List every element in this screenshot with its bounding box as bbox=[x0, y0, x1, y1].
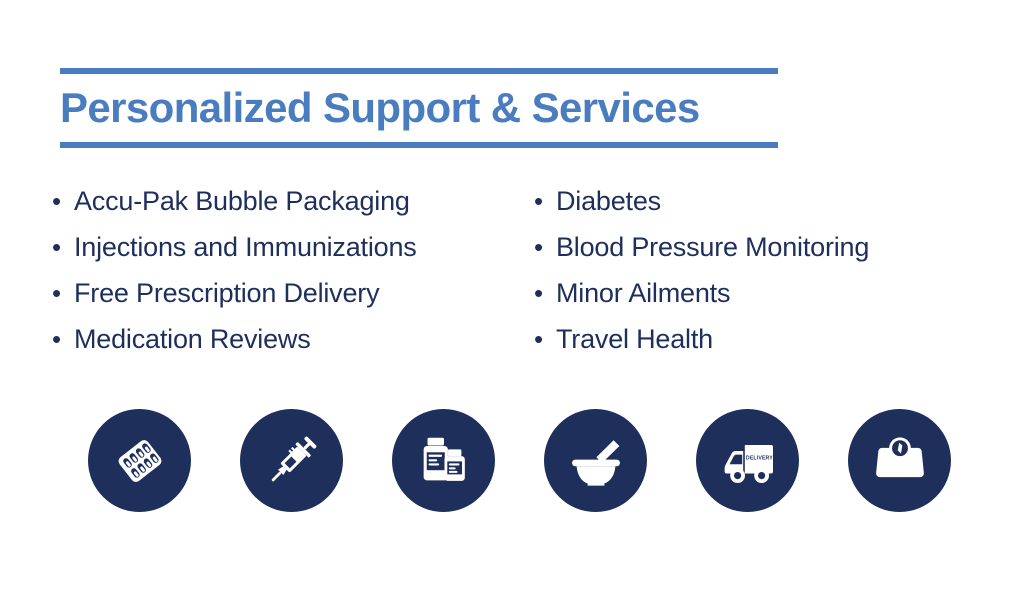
blister-pack-icon bbox=[108, 429, 172, 493]
services-lists: • Accu-Pak Bubble Packaging • Injections… bbox=[0, 178, 1025, 368]
list-item: • Diabetes bbox=[534, 178, 869, 224]
list-item: • Free Prescription Delivery bbox=[52, 270, 417, 316]
list-item-label: Free Prescription Delivery bbox=[74, 270, 379, 316]
list-item-label: Blood Pressure Monitoring bbox=[556, 224, 869, 270]
weight-scale-icon bbox=[869, 430, 931, 492]
list-item: • Blood Pressure Monitoring bbox=[534, 224, 869, 270]
services-column-right: • Diabetes • Blood Pressure Monitoring •… bbox=[534, 178, 869, 362]
services-column-left: • Accu-Pak Bubble Packaging • Injections… bbox=[52, 178, 417, 362]
bullet-icon: • bbox=[52, 270, 74, 316]
list-item-label: Medication Reviews bbox=[74, 316, 311, 362]
bullet-icon: • bbox=[52, 178, 74, 224]
list-item-label: Travel Health bbox=[556, 316, 713, 362]
list-item-label: Diabetes bbox=[556, 178, 661, 224]
list-item-label: Injections and Immunizations bbox=[74, 224, 417, 270]
title-block: Personalized Support & Services bbox=[60, 68, 778, 148]
service-icon-row: DELIVERY bbox=[0, 409, 1025, 512]
icon-badge-weight-scale bbox=[848, 409, 951, 512]
icon-badge-mortar-pestle bbox=[544, 409, 647, 512]
list-item: • Accu-Pak Bubble Packaging bbox=[52, 178, 417, 224]
list-item: • Travel Health bbox=[534, 316, 869, 362]
bullet-icon: • bbox=[534, 316, 556, 362]
bullet-icon: • bbox=[534, 178, 556, 224]
bullet-icon: • bbox=[534, 224, 556, 270]
title-rule-bottom bbox=[60, 142, 778, 148]
list-item: • Injections and Immunizations bbox=[52, 224, 417, 270]
slide-canvas: Personalized Support & Services • Accu-P… bbox=[0, 0, 1025, 590]
icon-badge-blister-pack bbox=[88, 409, 191, 512]
list-item: • Medication Reviews bbox=[52, 316, 417, 362]
icon-badge-syringe bbox=[240, 409, 343, 512]
bullet-icon: • bbox=[534, 270, 556, 316]
delivery-truck-icon: DELIVERY bbox=[716, 429, 780, 493]
icon-badge-pill-bottles bbox=[392, 409, 495, 512]
pill-bottles-icon bbox=[413, 430, 475, 492]
syringe-icon bbox=[260, 429, 324, 493]
bullet-icon: • bbox=[52, 316, 74, 362]
icon-badge-delivery-truck: DELIVERY bbox=[696, 409, 799, 512]
list-item-label: Minor Ailments bbox=[556, 270, 730, 316]
list-item-label: Accu-Pak Bubble Packaging bbox=[74, 178, 410, 224]
bullet-icon: • bbox=[52, 224, 74, 270]
page-title: Personalized Support & Services bbox=[60, 74, 778, 142]
truck-delivery-label: DELIVERY bbox=[745, 455, 772, 461]
list-item: • Minor Ailments bbox=[534, 270, 869, 316]
mortar-pestle-icon bbox=[564, 429, 628, 493]
